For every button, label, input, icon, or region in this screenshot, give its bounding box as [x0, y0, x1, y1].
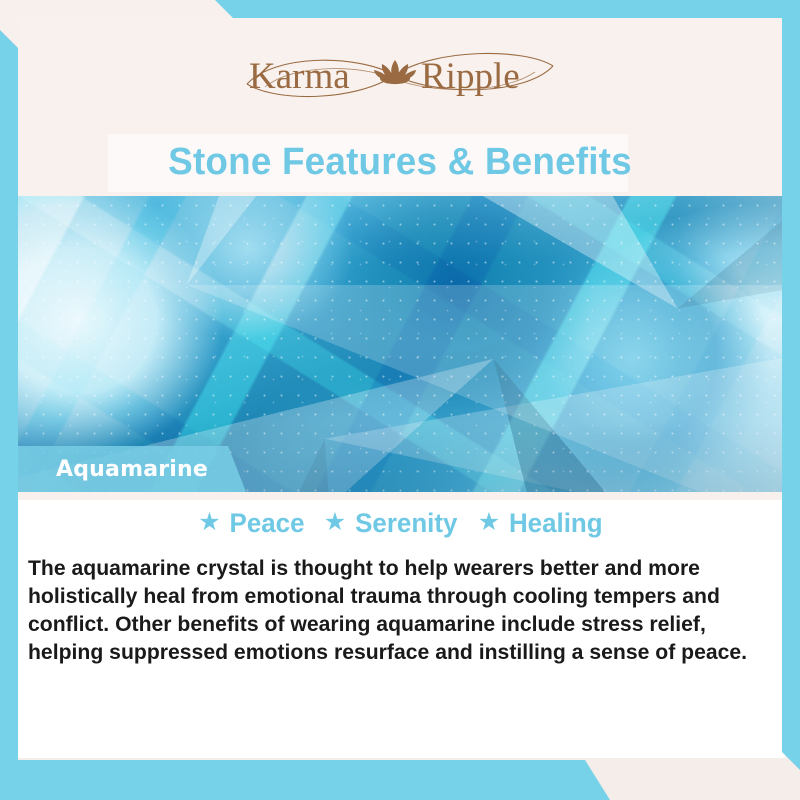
content-panel: ★ Peace ★ Serenity ★ Healing The aquamar… [18, 492, 785, 758]
brand-name-left: Karma [249, 56, 350, 97]
crystal-photo: Aquamarine [18, 196, 785, 492]
frame-right-accent-bar [782, 0, 800, 770]
brand-logo: Karma Ripple [18, 44, 782, 106]
brand-name-right: Ripple [421, 56, 520, 97]
stone-benefits-poster: Karma Ripple Stone Features & Benefits A… [0, 0, 800, 800]
header: Karma Ripple [18, 18, 782, 128]
title-band: Stone Features & Benefits [18, 128, 782, 196]
keyword-list: ★ Peace ★ Serenity ★ Healing [18, 508, 785, 539]
description-paragraph: The aquamarine crystal is thought to hel… [28, 554, 760, 666]
keyword-item-peace: ★ Peace [198, 508, 306, 539]
keyword-label: Serenity [355, 508, 457, 539]
keyword-label: Peace [229, 508, 304, 539]
stone-name-banner: Aquamarine [18, 446, 246, 492]
keyword-label: Healing [509, 508, 603, 539]
star-icon: ★ [478, 510, 500, 535]
karma-ripple-logo-svg: Karma Ripple [235, 44, 565, 106]
keyword-item-healing: ★ Healing [478, 508, 605, 539]
lotus-icon [374, 60, 416, 84]
stone-name-label: Aquamarine [56, 457, 208, 482]
frame-left-accent-bar [0, 30, 18, 800]
page-title: Stone Features & Benefits [29, 128, 770, 196]
star-icon: ★ [324, 510, 346, 535]
star-icon: ★ [198, 510, 220, 535]
keyword-item-serenity: ★ Serenity [324, 508, 460, 539]
frame-top-accent-bar [0, 0, 800, 18]
content-top-strip [18, 492, 785, 500]
